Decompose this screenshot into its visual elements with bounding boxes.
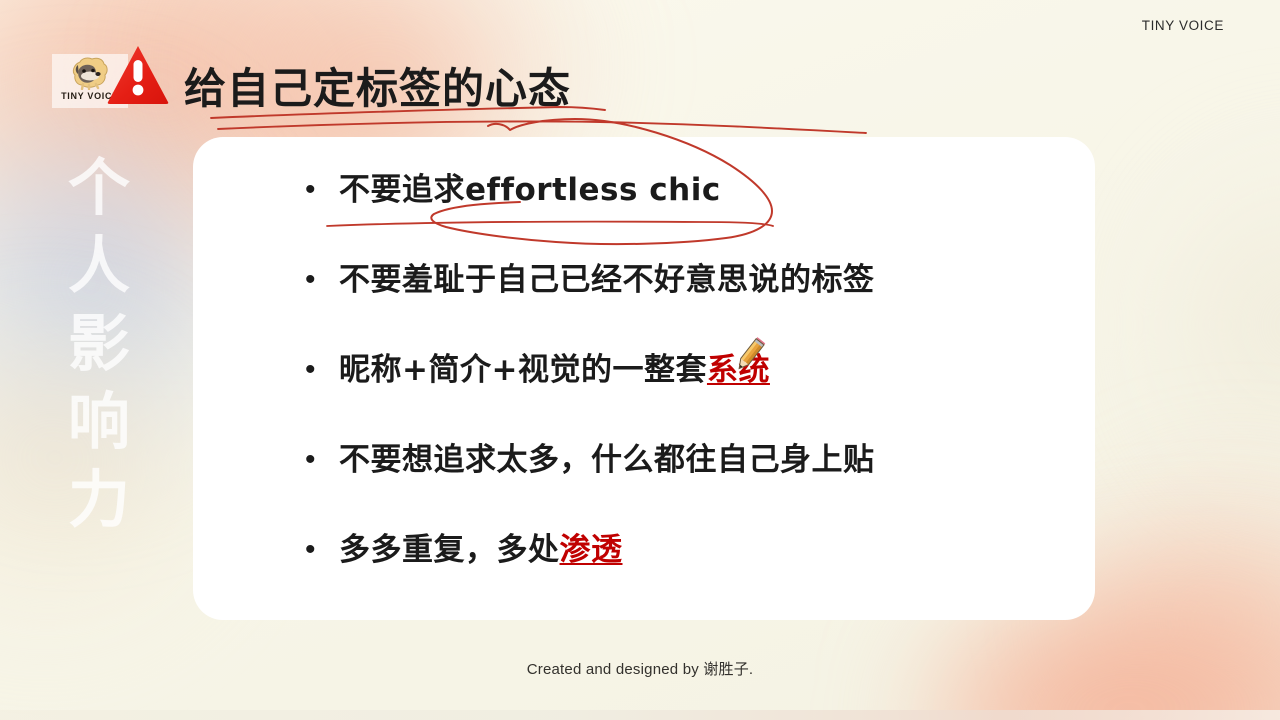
bullet-text-5: 多多重复，多处渗透 (339, 528, 623, 572)
brand-label-top-right: TINY VOICE (1142, 18, 1224, 33)
bullet-text-3: 昵称+简介+视觉的一整套系统 (339, 348, 770, 392)
watermark-char-3: 影 (68, 314, 130, 376)
bullet-text-4-plain: 不要想追求太多，什么都往自己身上贴 (339, 442, 875, 478)
bullet-marker: • (293, 168, 339, 212)
warning-triangle-icon (106, 44, 170, 106)
vertical-watermark: 个 人 影 响 力 (44, 158, 154, 548)
bullet-text-2-plain: 不要羞耻于自己已经不好意思说的标签 (339, 262, 875, 298)
bullet-list: • 不要追求effortless chic • 不要羞耻于自己已经不好意思说的标… (293, 168, 1073, 618)
list-item: • 不要想追求太多，什么都往自己身上贴 (293, 438, 1073, 528)
bullet-text-1: 不要追求effortless chic (339, 168, 721, 212)
pencil-cursor-icon[interactable] (729, 336, 769, 376)
bullet-text-4: 不要想追求太多，什么都往自己身上贴 (339, 438, 875, 482)
footer-credit: Created and designed by 谢胜子. (0, 658, 1280, 679)
bullet-marker: • (293, 528, 339, 572)
bottom-edge-strip (0, 710, 1280, 720)
page-title: 给自己定标签的心态 (184, 55, 571, 116)
slide-canvas: 个 人 影 响 力 TINY VOICE TINY VOICE (0, 0, 1280, 720)
watermark-char-1: 个 (68, 158, 130, 220)
bullet-marker: • (293, 348, 339, 392)
bullet-text-5-highlight: 渗透 (560, 532, 623, 568)
watermark-char-2: 人 (68, 236, 130, 298)
list-item: • 不要羞耻于自己已经不好意思说的标签 (293, 258, 1073, 348)
watermark-char-4: 响 (68, 392, 130, 454)
bullet-text-5-plain: 多多重复，多处 (339, 532, 560, 568)
watermark-char-5: 力 (68, 470, 130, 532)
list-item: • 昵称+简介+视觉的一整套系统 (293, 348, 1073, 438)
list-item: • 不要追求effortless chic (293, 168, 1073, 258)
bullet-marker: • (293, 258, 339, 302)
bullet-marker: • (293, 438, 339, 482)
bullet-text-3-plain: 昵称+简介+视觉的一整套 (339, 352, 707, 388)
list-item: • 多多重复，多处渗透 (293, 528, 1073, 618)
bullet-text-1-plain: 不要追求effortless chic (339, 172, 721, 208)
bullet-text-2: 不要羞耻于自己已经不好意思说的标签 (339, 258, 875, 302)
